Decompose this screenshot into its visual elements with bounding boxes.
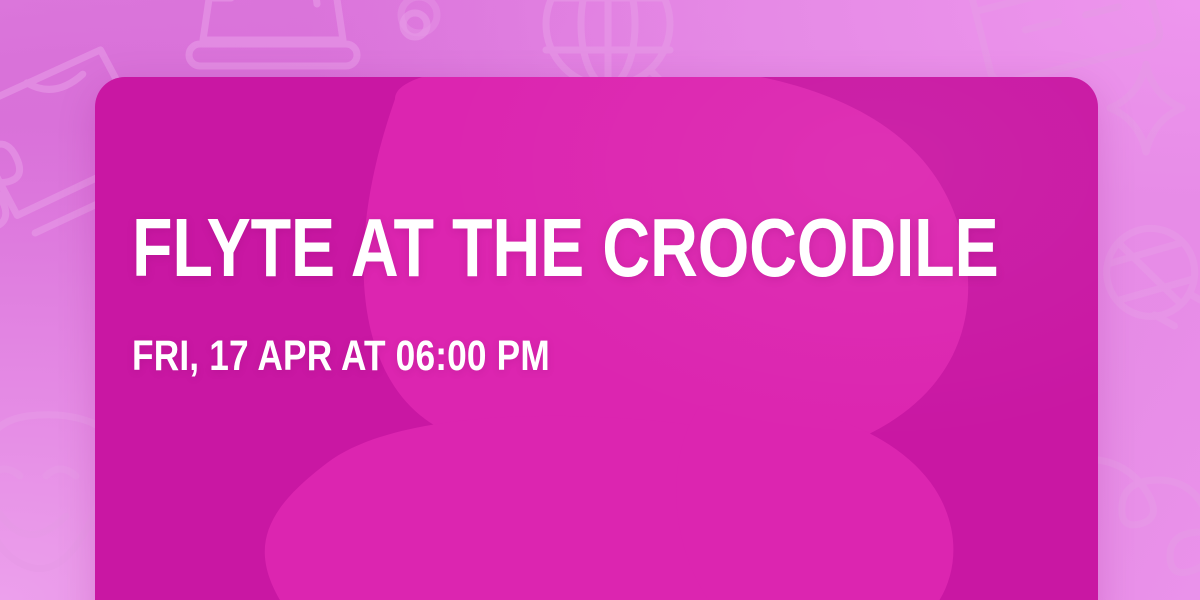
event-text-block: FLYTE AT THE CROCODILE FRI, 17 APR AT 06… — [132, 207, 1038, 378]
event-datetime: FRI, 17 APR AT 06:00 PM — [132, 288, 875, 378]
event-share-card-canvas: FLYTE AT THE CROCODILE FRI, 17 APR AT 06… — [0, 0, 1200, 600]
event-title: FLYTE AT THE CROCODILE — [132, 207, 857, 288]
event-card[interactable]: FLYTE AT THE CROCODILE FRI, 17 APR AT 06… — [95, 77, 1098, 600]
